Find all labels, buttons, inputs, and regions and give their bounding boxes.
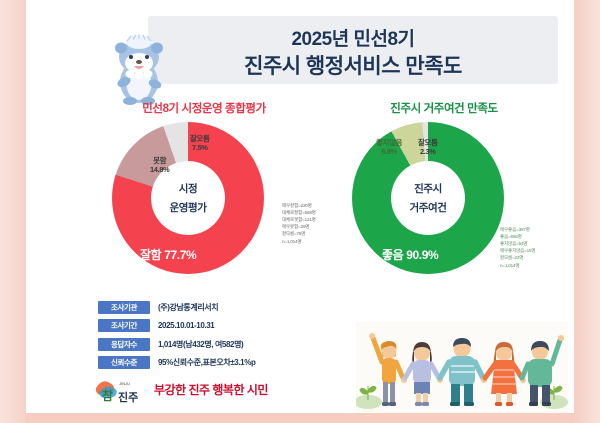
info-key-respondents: 응답자수 bbox=[98, 338, 150, 351]
jinju-city-logo: 참 진주 JINJU bbox=[92, 372, 146, 406]
table-row: 응답자수 1,014명(남432명, 여582명) bbox=[98, 336, 358, 352]
page-title-line1: 2025년 민선8기 bbox=[148, 24, 558, 51]
donut-center-right-line2: 거주여건 bbox=[409, 200, 446, 215]
main-label-left: 잘함 77.7% bbox=[140, 246, 196, 263]
main-label-right: 좋음 90.9% bbox=[382, 246, 438, 263]
info-key-period: 조사기간 bbox=[98, 319, 150, 332]
slice-label-left-jalmoreum: 잘모름 7.5% bbox=[190, 134, 210, 153]
header: 2025년 민선8기 진주시 행정서비스 만족도 bbox=[26, 12, 574, 90]
breakdown-note-right: 매우좋음=367명 좋음=556명 좋지않음=54명 매우좋지않음=15명 잘모… bbox=[500, 226, 535, 269]
chart-city-administration: 시정 운영평가 못함 14.8% 잘모름 7.5% 잘함 77.7% 매우잘함=… bbox=[54, 116, 334, 286]
info-key-organization: 조사기관 bbox=[98, 301, 150, 314]
info-value-organization: (주)강남통계리서치 bbox=[158, 302, 218, 313]
page-title-line2: 진주시 행정서비스 만족도 bbox=[148, 50, 558, 80]
info-value-confidence: 95%신뢰수준,표본오차±3.1%p bbox=[158, 357, 255, 368]
donut-center-left-line1: 시정 bbox=[179, 181, 198, 196]
donut-center-right: 진주시 거주여건 bbox=[391, 161, 465, 235]
survey-info-table: 조사기관 (주)강남통계리서치 조사기간 2025.10.01-10.31 응답… bbox=[98, 299, 358, 373]
bottom-accent-band bbox=[26, 413, 574, 423]
table-row: 신뢰수준 95%신뢰수준,표본오차±3.1%p bbox=[98, 355, 358, 371]
slice-label-left-motham: 못함 14.8% bbox=[150, 156, 169, 175]
info-value-period: 2025.10.01-10.31 bbox=[158, 321, 214, 330]
donut-center-left-line2: 운영평가 bbox=[169, 200, 206, 215]
table-row: 조사기관 (주)강남통계리서치 bbox=[98, 299, 358, 315]
table-row: 조사기간 2025.10.01-10.31 bbox=[98, 318, 358, 334]
infographic-page: 2025년 민선8기 진주시 행정서비스 만족도 민선8기 시정운영 종합평가 … bbox=[26, 0, 574, 423]
info-key-confidence: 신뢰수준 bbox=[98, 356, 150, 369]
footer: 참 진주 JINJU 부강한 진주 행복한 시민 bbox=[92, 372, 268, 406]
svg-text:참: 참 bbox=[102, 388, 113, 403]
donut-center-right-line1: 진주시 bbox=[414, 181, 442, 196]
people-holding-hands-illustration bbox=[356, 322, 568, 414]
section-heading-right: 진주시 거주여건 만족도 bbox=[344, 100, 544, 116]
info-value-respondents: 1,014명(남432명, 여582명) bbox=[158, 339, 243, 350]
svg-text:JINJU: JINJU bbox=[119, 381, 130, 386]
chart-residential-satisfaction: 진주시 거주여건 좋지않음 6.8% 잘모름 2.3% 좋음 90.9% 매우좋… bbox=[294, 116, 574, 286]
section-heading-left: 민선8기 시정운영 종합평가 bbox=[104, 100, 304, 116]
slice-label-right-jojianeum: 좋지않음 6.8% bbox=[376, 138, 402, 157]
page-frame: 2025년 민선8기 진주시 행정서비스 만족도 민선8기 시정운영 종합평가 … bbox=[0, 0, 600, 423]
slice-label-right-jalmoreum: 잘모름 2.3% bbox=[418, 138, 438, 157]
logo-text: 진주 bbox=[118, 390, 138, 404]
footer-slogan: 부강한 진주 행복한 시민 bbox=[154, 381, 268, 398]
